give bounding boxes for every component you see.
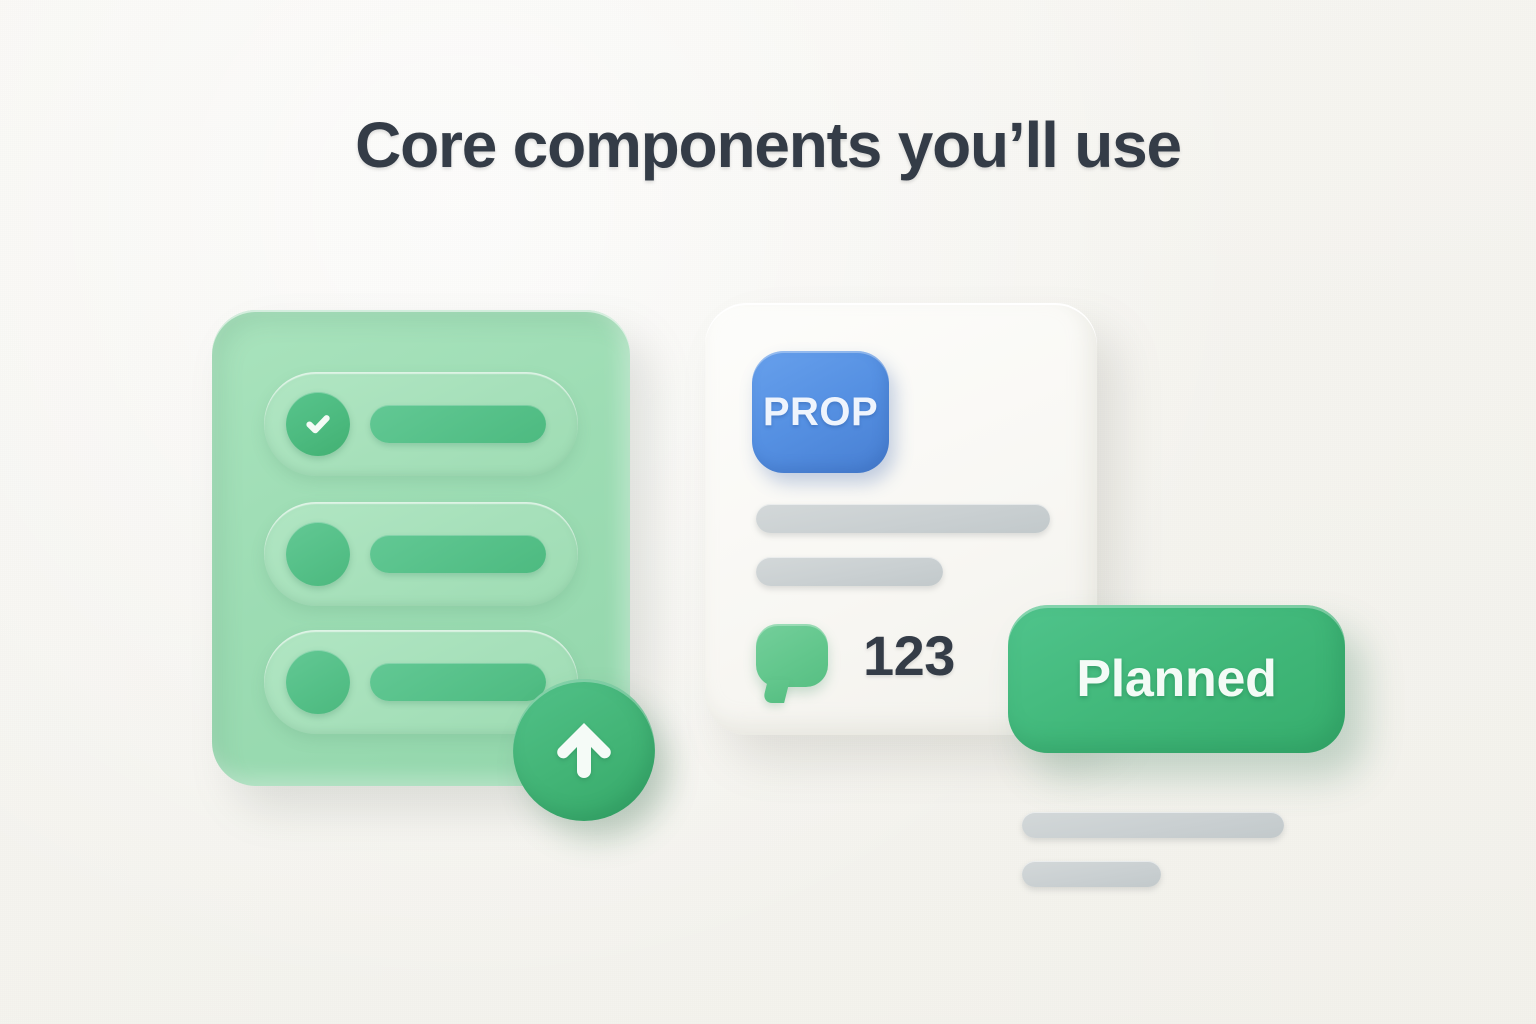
page-title: Core components you’ll use — [0, 108, 1536, 182]
dot-icon[interactable] — [286, 650, 350, 714]
checklist-row[interactable] — [264, 372, 578, 476]
check-icon — [301, 407, 335, 441]
upvote-button[interactable] — [513, 679, 655, 821]
check-circle[interactable] — [286, 392, 350, 456]
row-placeholder-bar — [370, 535, 546, 573]
comment-bubble-icon — [756, 624, 828, 687]
illustration-canvas: Core components you’ll use — [0, 0, 1536, 1024]
placeholder-line — [1022, 812, 1284, 838]
arrow-up-icon — [554, 717, 614, 783]
comment-count-group[interactable]: 123 — [756, 623, 955, 688]
row-placeholder-bar — [370, 405, 546, 443]
status-badge[interactable]: Planned — [1008, 605, 1345, 753]
placeholder-line — [756, 504, 1050, 533]
placeholder-line — [756, 557, 943, 586]
checklist-row[interactable] — [264, 502, 578, 606]
dot-icon[interactable] — [286, 522, 350, 586]
row-placeholder-bar — [370, 663, 546, 701]
placeholder-line — [1022, 861, 1161, 887]
prop-badge[interactable]: PROP — [752, 351, 889, 473]
comment-count-value: 123 — [863, 623, 955, 688]
